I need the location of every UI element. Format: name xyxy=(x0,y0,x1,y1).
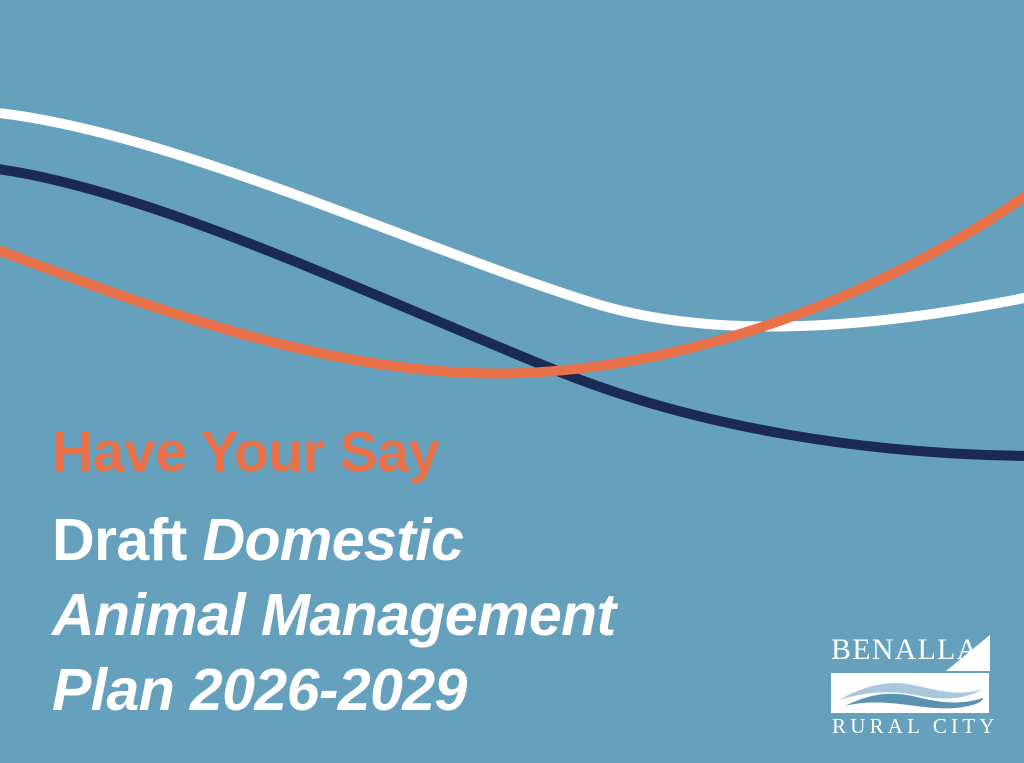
poster-canvas: Have Your Say Draft Domestic Animal Mana… xyxy=(0,0,1024,763)
page-title: Draft Domestic Animal Management Plan 20… xyxy=(52,503,616,728)
page-title-line-3: Plan 2026-2029 xyxy=(52,653,616,728)
white-swoosh-curve xyxy=(0,112,1024,326)
have-your-say-eyebrow: Have Your Say xyxy=(52,424,616,481)
river-waves-icon xyxy=(831,673,989,713)
page-title-draft-word: Draft xyxy=(52,507,202,573)
page-title-line-2: Animal Management xyxy=(52,578,616,653)
page-title-line-1: Draft Domestic xyxy=(52,503,616,578)
logo-subtitle-rural-city: RURAL CITY xyxy=(832,714,990,738)
coral-swoosh-curve xyxy=(0,190,1024,374)
logo-waves-panel xyxy=(831,673,989,713)
benalla-rural-city-logo: BENALLA RURAL CITY xyxy=(824,634,996,738)
navy-swoosh-curve xyxy=(0,168,1024,456)
page-title-domestic-word: Domestic xyxy=(202,507,463,573)
sail-triangle-icon xyxy=(946,635,990,673)
headline-block: Have Your Say Draft Domestic Animal Mana… xyxy=(52,424,616,728)
